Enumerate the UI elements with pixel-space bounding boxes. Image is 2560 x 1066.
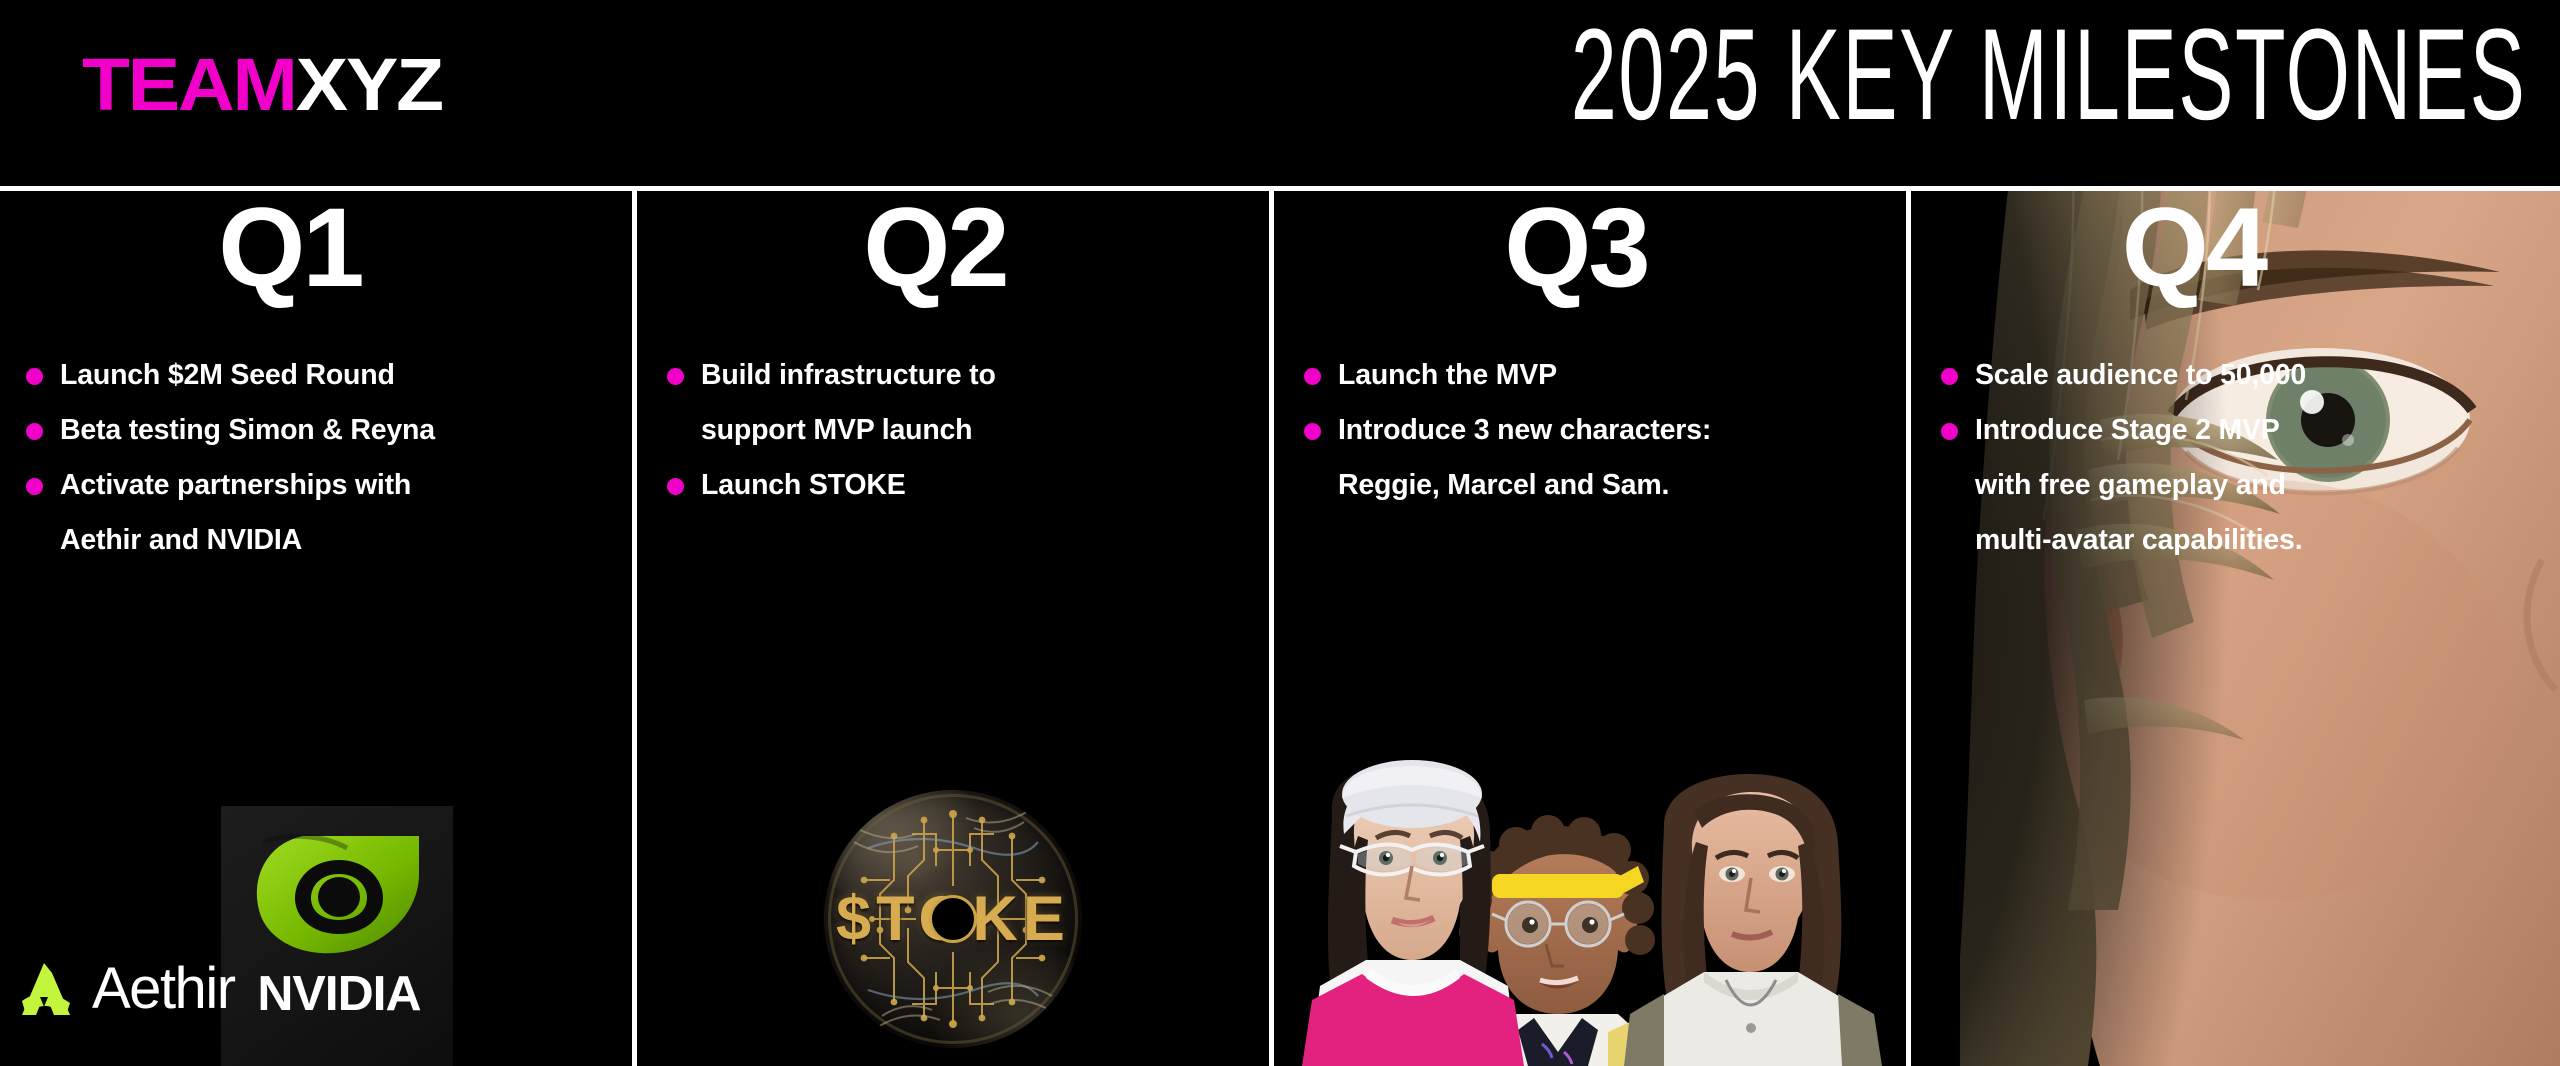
bullet-line: Reggie, Marcel and Sam. <box>1338 458 1906 513</box>
bullet-line: Scale audience to 50,000 <box>1975 348 2560 403</box>
aethir-wordmark: Aethir <box>92 960 235 1018</box>
list-item: Activate partnerships with Aethir and NV… <box>12 458 632 568</box>
bullet-line: Introduce 3 new characters: <box>1338 403 1906 458</box>
quarter-title-q3: Q3 <box>1274 191 1892 309</box>
column-divider-3 <box>1906 191 1911 1066</box>
nvidia-eye-icon <box>247 826 427 962</box>
brand-logo-team: TEAM <box>82 43 296 126</box>
page-title: 2025 KEY MILESTONES <box>1570 10 2526 140</box>
bullet-dot-icon <box>1941 423 1958 440</box>
bullet-line: Launch the MVP <box>1338 348 1906 403</box>
bullet-line: Beta testing Simon & Reyna <box>60 403 632 458</box>
avatar-portrait <box>1911 191 2560 1066</box>
bullet-list-q4: Scale audience to 50,000 Introduce Stage… <box>1911 348 2560 568</box>
brand-logo: TEAMXYZ <box>82 48 442 122</box>
bullet-dot-icon <box>26 478 43 495</box>
column-q3: Q3 Launch the MVP Introduce 3 new charac… <box>1274 191 1906 1066</box>
bullet-dot-icon <box>26 423 43 440</box>
nvidia-logo: NVIDIA <box>221 806 453 1066</box>
quarter-columns: Q1 Launch $2M Seed Round Beta testing Si… <box>0 191 2560 1066</box>
column-q1: Q1 Launch $2M Seed Round Beta testing Si… <box>0 191 632 1066</box>
bullet-dot-icon <box>26 368 43 385</box>
list-item: Launch STOKE <box>653 458 1269 513</box>
aethir-logo: Aethir <box>14 950 236 1028</box>
list-item: Launch $2M Seed Round <box>12 348 632 403</box>
slide-canvas: TEAMXYZ 2025 KEY MILESTONES Q1 Launch $2… <box>0 0 2560 1066</box>
quarter-title-q1: Q1 <box>0 191 606 309</box>
bullet-line: Activate partnerships with <box>60 458 632 513</box>
bullet-line: Launch STOKE <box>701 458 1269 513</box>
header-divider-rule <box>0 186 2560 191</box>
bullet-dot-icon <box>667 478 684 495</box>
bullet-dot-icon <box>667 368 684 385</box>
bullet-dot-icon <box>1304 368 1321 385</box>
column-q2: Q2 Build infrastructure to support MVP l… <box>637 191 1269 1066</box>
bullet-line: Aethir and NVIDIA <box>60 513 632 568</box>
nvidia-wordmark: NVIDIA <box>210 966 467 1022</box>
coin-body: $TOKE <box>824 790 1082 1048</box>
bullet-line: Introduce Stage 2 MVP <box>1975 403 2560 458</box>
bullet-line: Build infrastructure to <box>701 348 1269 403</box>
bullet-list-q1: Launch $2M Seed Round Beta testing Simon… <box>0 348 632 568</box>
column-divider-2 <box>1269 191 1274 1066</box>
q4-portrait-background <box>1911 191 2560 1066</box>
quarter-title-q2: Q2 <box>637 191 1251 309</box>
bullet-dot-icon <box>1941 368 1958 385</box>
list-item: Introduce Stage 2 MVP with free gameplay… <box>1927 403 2560 568</box>
slide-header: TEAMXYZ 2025 KEY MILESTONES <box>0 0 2560 190</box>
bullet-line: with free gameplay and <box>1975 458 2560 513</box>
character-lineup <box>1290 756 1890 1066</box>
column-q4: Q4 Scale audience to 50,000 Introduce St… <box>1911 191 2560 1066</box>
bullet-line: support MVP launch <box>701 403 1269 458</box>
quarter-title-q4: Q4 <box>1911 191 2518 309</box>
brand-logo-xyz: XYZ <box>296 43 442 126</box>
aethir-mark-icon <box>14 959 78 1019</box>
list-item: Launch the MVP <box>1290 348 1906 403</box>
list-item: Introduce 3 new characters: Reggie, Marc… <box>1290 403 1906 513</box>
list-item: Build infrastructure to support MVP laun… <box>653 348 1269 458</box>
stoke-coin: $TOKE <box>824 790 1082 1048</box>
bullet-line: Launch $2M Seed Round <box>60 348 632 403</box>
bullet-line: multi-avatar capabilities. <box>1975 513 2560 568</box>
list-item: Scale audience to 50,000 <box>1927 348 2560 403</box>
list-item: Beta testing Simon & Reyna <box>12 403 632 458</box>
character-sam <box>1620 766 1892 1066</box>
bullet-list-q2: Build infrastructure to support MVP laun… <box>637 348 1269 513</box>
bullet-list-q3: Launch the MVP Introduce 3 new character… <box>1274 348 1906 513</box>
character-reggie <box>1284 746 1544 1066</box>
q1-partner-logos: NVIDIA Aethir <box>0 766 632 1066</box>
column-divider-1 <box>632 191 637 1066</box>
bullet-dot-icon <box>1304 423 1321 440</box>
coin-center-hole <box>929 895 977 943</box>
